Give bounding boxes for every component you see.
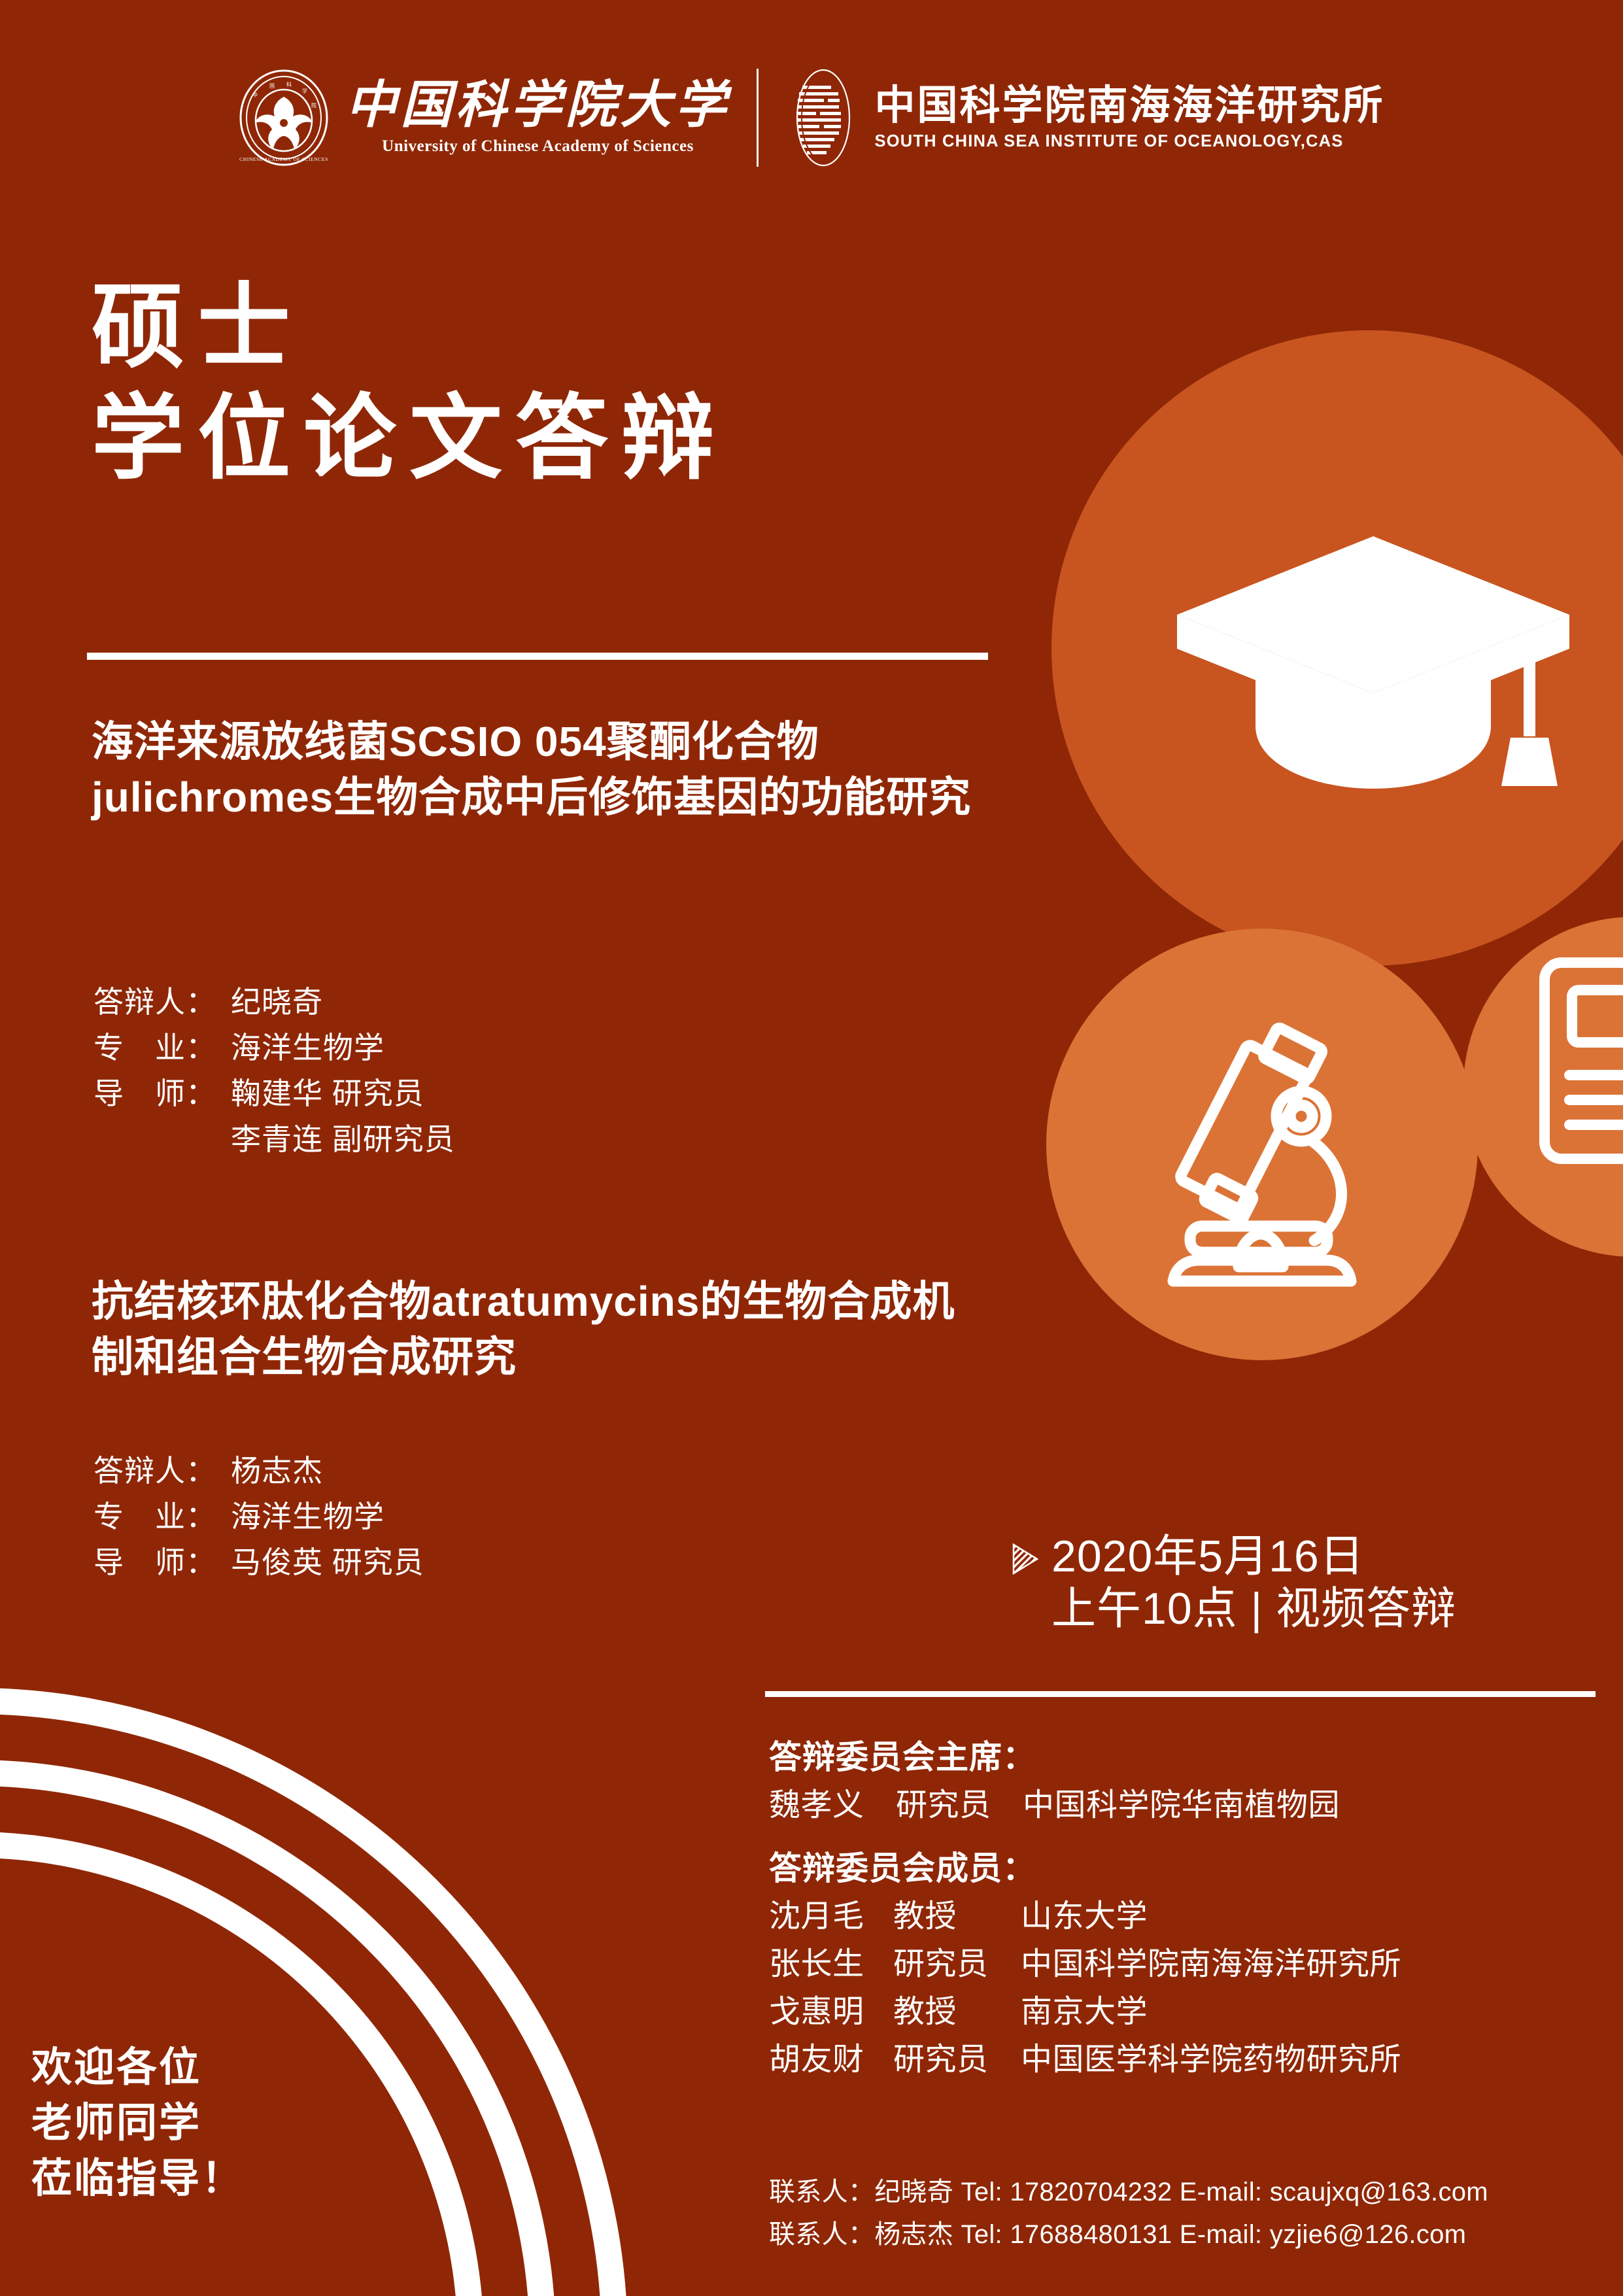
svg-text:中: 中 bbox=[252, 92, 258, 98]
thesis-meta-2: 答辩人： 杨志杰 专 业： 海洋生物学 导 师： 马俊英 研究员 bbox=[94, 1448, 682, 1586]
meta-row: 导 师： 马俊英 研究员 bbox=[94, 1540, 682, 1586]
thesis-meta-1: 答辩人： 纪晓奇 专 业： 海洋生物学 导 师： 鞠建华 研究员 李青连 副研究… bbox=[94, 980, 682, 1163]
meta-label: 专 业： bbox=[94, 1025, 231, 1071]
committee-members-heading: 答辩委员会成员： bbox=[769, 1844, 1619, 1893]
member-org: 山东大学 bbox=[1021, 1893, 1619, 1941]
svg-text:CHINESE ACADEMY OF SCIENCES: CHINESE ACADEMY OF SCIENCES bbox=[240, 156, 329, 162]
committee-member-row: 胡友财 研究员 中国医学科学院药物研究所 bbox=[769, 2036, 1619, 2084]
meta-value: 海洋生物学 bbox=[231, 1494, 682, 1540]
contact-line-1: 联系人：纪晓奇 Tel: 17820704232 E-mail: scaujxq… bbox=[769, 2171, 1619, 2214]
contact-line-2: 联系人：杨志杰 Tel: 17688480131 E-mail: yzjie6@… bbox=[769, 2214, 1619, 2256]
page-title-line1: 硕士 bbox=[92, 281, 303, 374]
graduation-cap-icon bbox=[1170, 530, 1576, 804]
contacts-block: 联系人：纪晓奇 Tel: 17820704232 E-mail: scaujxq… bbox=[769, 2171, 1619, 2256]
welcome-line-3: 莅临指导！ bbox=[31, 2151, 244, 2207]
member-org: 中国医学科学院药物研究所 bbox=[1021, 2036, 1619, 2084]
scsio-en-name: SOUTH CHINA SEA INSTITUTE OF OCEANOLOGY,… bbox=[875, 132, 1385, 151]
committee-member-row: 沈月毛 教授 山东大学 bbox=[769, 1893, 1619, 1941]
document-icon bbox=[1538, 956, 1623, 1172]
thesis-title-2: 抗结核环肽化合物atratumycins的生物合成机制和组合生物合成研究 bbox=[92, 1274, 981, 1385]
logo-divider bbox=[757, 69, 759, 167]
scsio-cn-name: 中国科学院南海海洋研究所 bbox=[875, 84, 1385, 127]
welcome-line-1: 欢迎各位 bbox=[31, 2040, 244, 2096]
member-name: 沈月毛 bbox=[769, 1893, 893, 1941]
meta-label: 导 师： bbox=[94, 1071, 231, 1117]
meta-value: 马俊英 研究员 bbox=[231, 1540, 682, 1586]
svg-text:院: 院 bbox=[311, 102, 316, 109]
meta-value: 李青连 副研究员 bbox=[231, 1117, 682, 1163]
ucas-seal-icon: 中国 科学 院 CHINESE ACADEMY OF SCIENCES bbox=[238, 69, 330, 166]
meta-row: 李青连 副研究员 bbox=[94, 1117, 682, 1163]
member-rank: 教授 bbox=[893, 1989, 1021, 2036]
meta-row: 专 业： 海洋生物学 bbox=[94, 1494, 682, 1540]
meta-value: 杨志杰 bbox=[231, 1448, 682, 1494]
welcome-line-2: 老师同学 bbox=[31, 2096, 244, 2151]
scsio-seal-icon bbox=[785, 69, 862, 167]
committee-divider bbox=[765, 1691, 1596, 1697]
header-logos: 中国 科学 院 CHINESE ACADEMY OF SCIENCES 中国科学… bbox=[0, 65, 1623, 170]
page-title-line2: 学位论文答辩 bbox=[92, 392, 727, 485]
svg-text:科: 科 bbox=[286, 81, 292, 88]
committee-block: 答辩委员会主席： 魏孝义 研究员 中国科学院华南植物园 答辩委员会成员： 沈月毛… bbox=[769, 1733, 1619, 2084]
member-name: 张长生 bbox=[769, 1941, 893, 1989]
member-name: 胡友财 bbox=[769, 2036, 893, 2084]
meta-label bbox=[94, 1117, 231, 1163]
triangle-right-icon bbox=[1011, 1543, 1040, 1575]
committee-member-row: 戈惠明 教授 南京大学 bbox=[769, 1989, 1619, 2036]
committee-member-row: 张长生 研究员 中国科学院南海海洋研究所 bbox=[769, 1941, 1619, 1989]
member-rank: 教授 bbox=[893, 1893, 1021, 1941]
svg-text:学: 学 bbox=[302, 88, 307, 94]
meta-label: 专 业： bbox=[94, 1494, 231, 1540]
welcome-block: 欢迎各位 老师同学 莅临指导！ bbox=[31, 2040, 244, 2207]
meta-row: 答辩人： 纪晓奇 bbox=[94, 980, 682, 1025]
member-rank: 研究员 bbox=[893, 2036, 1021, 2084]
meta-value: 海洋生物学 bbox=[231, 1025, 682, 1071]
meta-label: 导 师： bbox=[94, 1540, 231, 1586]
spacer bbox=[769, 1830, 1619, 1844]
thesis-title-1: 海洋来源放线菌SCSIO 054聚酮化合物julichromes生物合成中后修饰… bbox=[92, 714, 981, 825]
meta-row: 导 师： 鞠建华 研究员 bbox=[94, 1071, 682, 1117]
meta-value: 纪晓奇 bbox=[231, 980, 682, 1025]
meta-row: 答辩人： 杨志杰 bbox=[94, 1448, 682, 1494]
meta-label: 答辩人： bbox=[94, 1448, 231, 1494]
meta-value: 鞠建华 研究员 bbox=[231, 1071, 682, 1117]
committee-chair: 魏孝义 研究员 中国科学院华南植物园 bbox=[769, 1782, 1619, 1830]
svg-text:国: 国 bbox=[269, 83, 275, 89]
member-org: 中国科学院南海海洋研究所 bbox=[1021, 1941, 1619, 1989]
ucas-en-name: University of Chinese Academy of Science… bbox=[382, 137, 694, 156]
member-org: 南京大学 bbox=[1021, 1989, 1619, 2036]
poster-root: 中国 科学 院 CHINESE ACADEMY OF SCIENCES 中国科学… bbox=[0, 0, 1623, 2296]
microscope-icon bbox=[1139, 1010, 1401, 1292]
ucas-logo: 中国 科学 院 CHINESE ACADEMY OF SCIENCES 中国科学… bbox=[238, 69, 730, 166]
title-divider bbox=[87, 653, 988, 660]
member-name: 戈惠明 bbox=[769, 1989, 893, 2036]
scsio-logo: 中国科学院南海海洋研究所 SOUTH CHINA SEA INSTITUTE O… bbox=[785, 69, 1385, 167]
schedule-block: 2020年5月16日 上午10点 | 视频答辩 bbox=[1011, 1530, 1599, 1635]
schedule-date: 2020年5月16日 bbox=[1051, 1530, 1365, 1583]
schedule-time: 上午10点 | 视频答辩 bbox=[1051, 1583, 1599, 1635]
meta-label: 答辩人： bbox=[94, 980, 231, 1025]
ucas-cn-name: 中国科学院大学 bbox=[345, 80, 730, 131]
meta-row: 专 业： 海洋生物学 bbox=[94, 1025, 682, 1071]
committee-chair-heading: 答辩委员会主席： bbox=[769, 1733, 1619, 1782]
member-rank: 研究员 bbox=[893, 1941, 1021, 1989]
